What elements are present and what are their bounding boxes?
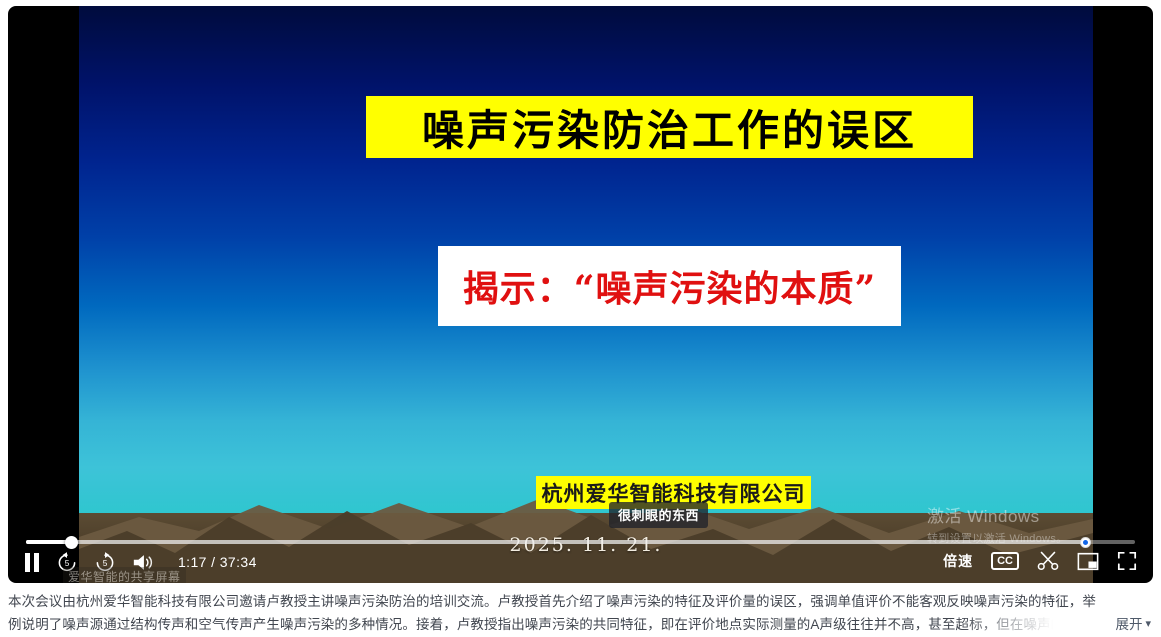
fullscreen-icon[interactable] <box>1117 551 1137 571</box>
description-text: 本次会议由杭州爱华智能科技有限公司邀请卢教授主讲噪声污染防治的培训交流。卢教授首… <box>8 590 1098 636</box>
clip-scissors-icon[interactable] <box>1037 551 1059 571</box>
time-display: 1:17 / 37:34 <box>178 554 257 570</box>
slide-subtitle-text: 揭示：“噪声污染的本质” <box>463 260 876 312</box>
progress-chapter-marker[interactable] <box>1080 537 1091 548</box>
controls-right-group[interactable]: 倍速 CC <box>943 551 1137 571</box>
video-stage[interactable]: 噪声污染防治工作的误区 揭示：“噪声污染的本质” 杭州爱华智能科技有限公司 20… <box>79 6 1093 583</box>
screen-share-hint: 爱华智能的共享屏幕 <box>63 567 186 583</box>
progress-bar[interactable] <box>8 536 1153 548</box>
expand-label: 展开 <box>1115 613 1142 636</box>
pause-button[interactable] <box>24 553 40 572</box>
expand-description-button[interactable]: 展开 ▾ <box>1115 613 1151 636</box>
slide-subtitle-banner: 揭示：“噪声污染的本质” <box>438 246 901 326</box>
video-player[interactable]: 噪声污染防治工作的误区 揭示：“噪声污染的本质” 杭州爱华智能科技有限公司 20… <box>8 6 1153 583</box>
video-description: 本次会议由杭州爱华智能科技有限公司邀请卢教授主讲噪声污染防治的培训交流。卢教授首… <box>0 590 1161 637</box>
slide-title-text: 噪声污染防治工作的误区 <box>422 97 917 158</box>
playback-speed-button[interactable]: 倍速 <box>943 551 973 571</box>
picture-in-picture-icon[interactable] <box>1077 552 1099 571</box>
slide-title-banner: 噪声污染防治工作的误区 <box>366 96 973 158</box>
progress-track[interactable] <box>26 540 1135 544</box>
progress-handle[interactable] <box>65 536 78 549</box>
chevron-down-icon: ▾ <box>1145 613 1151 636</box>
closed-captions-button[interactable]: CC <box>991 552 1019 570</box>
progress-buffered <box>26 540 1091 544</box>
